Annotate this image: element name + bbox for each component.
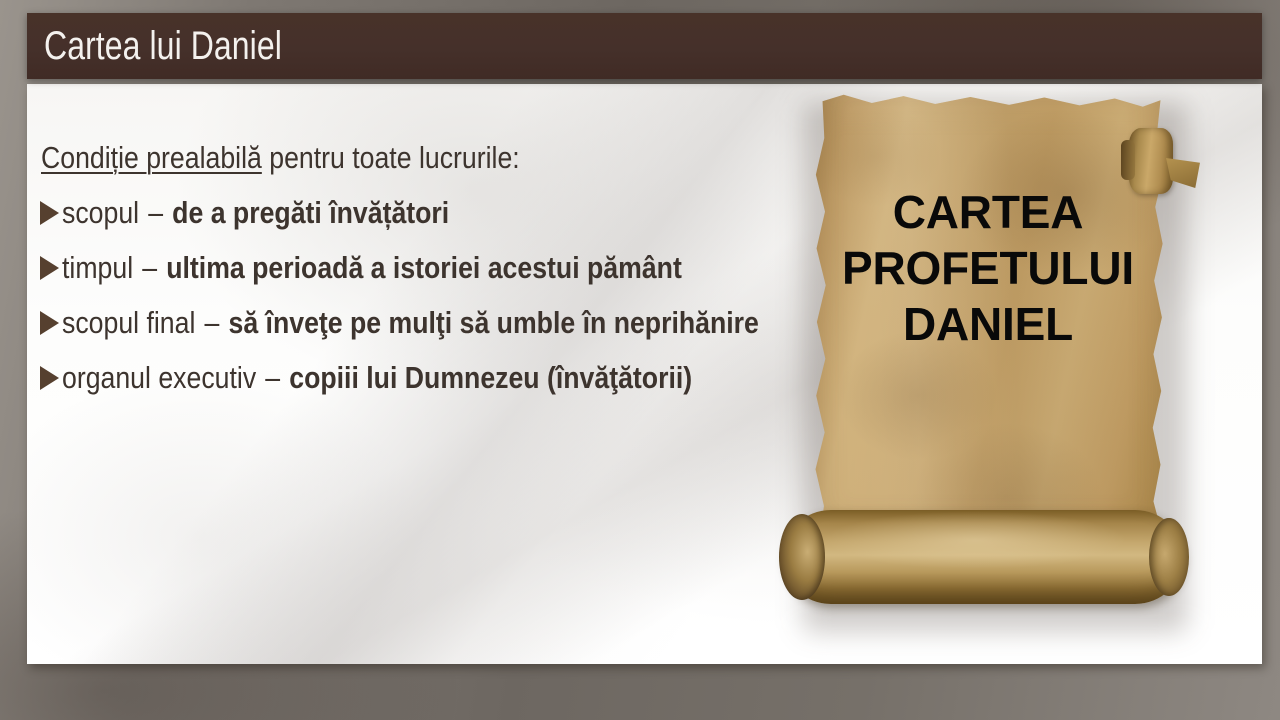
triangle-right-icon [40,311,59,335]
bullet-label: scopul [62,195,139,230]
triangle-right-icon [40,366,59,390]
bullet-item-scopul-final: scopul final – să înveţe pe mulţi să umb… [40,295,830,350]
scroll-bottom-roll [783,510,1183,604]
scroll-roll-cap-left [779,514,825,600]
bullet-dash: – [264,360,282,395]
bullet-label: timpul [62,250,133,285]
bullet-item-timpul: timpul – ultima perioadă a istoriei aces… [40,240,830,295]
bullet-value: de a pregăti învățători [172,195,449,230]
slide-canvas: Cartea lui Daniel Condiție prealabilă pe… [0,0,1280,720]
bullet-dash: – [203,305,221,340]
lead-rest: pentru toate lucrurile: [262,140,520,175]
bullet-item-scopul: scopul – de a pregăti învățători [40,185,830,240]
bullet-label: organul executiv [62,360,256,395]
scroll-headline-line-1: CARTEA [821,184,1155,240]
scroll-headline: CARTEA PROFETULUI DANIEL [821,184,1155,352]
lead-underlined-term: Condiție prealabilă [41,140,262,175]
content-card: Condiție prealabilă pentru toate lucruri… [27,84,1262,664]
triangle-right-icon [40,201,59,225]
triangle-right-icon [40,256,59,280]
scroll-headline-line-3: DANIEL [821,296,1155,352]
scroll-illustration: CARTEA PROFETULUI DANIEL [777,84,1202,640]
scroll-tab-notch [1121,140,1135,180]
page-title: Cartea lui Daniel [44,26,282,66]
bullet-label: scopul final [62,305,195,340]
bullet-dash: – [146,195,164,230]
bullet-value: să înveţe pe mulţi să umble în neprihăni… [228,305,758,340]
bullet-dash: – [141,250,159,285]
lead-line: Condiție prealabilă pentru toate lucruri… [40,130,830,185]
scroll-roll-cap-right [1149,518,1189,596]
bullet-value: ultima perioadă a istoriei acestui pămân… [166,250,682,285]
scroll-headline-line-2: PROFETULUI [821,240,1155,296]
body-text-block: Condiție prealabilă pentru toate lucruri… [40,130,830,405]
bullet-item-organul-executiv: organul executiv – copiii lui Dumnezeu (… [40,350,830,405]
bullet-value: copiii lui Dumnezeu (învăţătorii) [289,360,692,395]
title-banner: Cartea lui Daniel [27,13,1262,79]
